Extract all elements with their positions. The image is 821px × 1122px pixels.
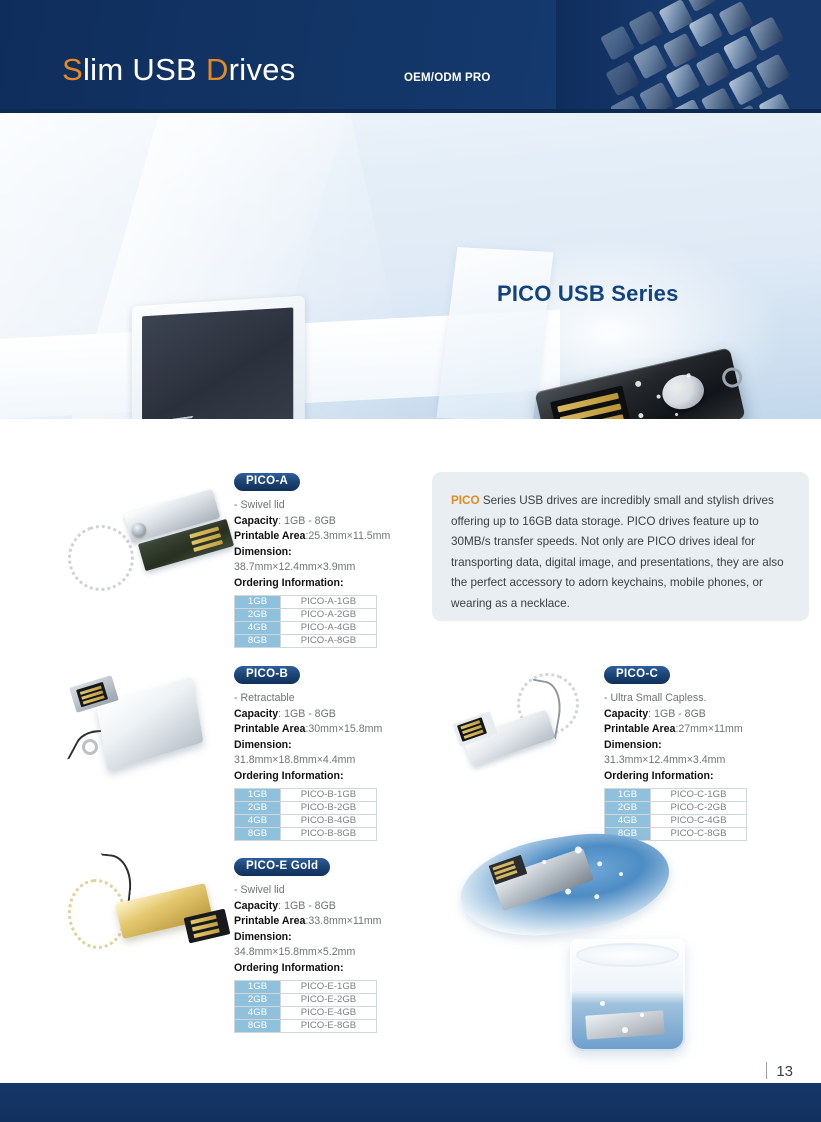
table-row: 2GBPICO-C-2GB bbox=[605, 802, 747, 815]
ordering-label: Ordering Information: bbox=[604, 769, 804, 785]
capacity-cell: 4GB bbox=[235, 1007, 281, 1020]
part-number-cell: PICO-C-8GB bbox=[651, 828, 747, 841]
pico-c-capacity-row: Capacity: 1GB - 8GB bbox=[604, 707, 804, 723]
water-bubble bbox=[565, 888, 572, 895]
part-number-cell: PICO-B-1GB bbox=[281, 789, 377, 802]
product-info-pico-a: PICO-A - Swivel lid Capacity: 1GB - 8GB … bbox=[234, 471, 424, 648]
printable-area-label: Printable Area bbox=[234, 723, 305, 735]
table-row: 4GBPICO-E-4GB bbox=[235, 1007, 377, 1020]
ordering-table-pico-b: 1GBPICO-B-1GB 2GBPICO-B-2GB 4GBPICO-B-4G… bbox=[234, 788, 377, 841]
capacity-cell: 1GB bbox=[605, 789, 651, 802]
water-bubble bbox=[640, 1013, 644, 1017]
water-bubble bbox=[619, 872, 624, 877]
pico-a-capacity-row: Capacity: 1GB - 8GB bbox=[234, 514, 424, 530]
laptop-lid bbox=[132, 295, 305, 419]
pico-c-printable-row: Printable Area:27mm×11mm bbox=[604, 722, 804, 738]
product-info-pico-c: PICO-C - Ultra Small Capless. Capacity: … bbox=[604, 664, 804, 841]
laptop-screen bbox=[142, 307, 293, 419]
capacity-label: Capacity bbox=[234, 708, 278, 720]
product-info-pico-b: PICO-B - Retractable Capacity: 1GB - 8GB… bbox=[234, 664, 424, 841]
capacity-cell: 4GB bbox=[235, 622, 281, 635]
capacity-cell: 8GB bbox=[235, 828, 281, 841]
table-row: 2GBPICO-B-2GB bbox=[235, 802, 377, 815]
product-photo-pico-a bbox=[48, 479, 233, 619]
ordering-label: Ordering Information: bbox=[234, 769, 424, 785]
part-number-cell: PICO-C-4GB bbox=[651, 815, 747, 828]
capacity-cell: 1GB bbox=[235, 789, 281, 802]
pico-c-printable-value: 27mm×11mm bbox=[678, 723, 742, 735]
pico-a-pivot bbox=[132, 523, 146, 537]
water-bubble bbox=[622, 1027, 628, 1033]
page-title-initial-d: D bbox=[206, 52, 229, 87]
capacity-cell: 2GB bbox=[235, 802, 281, 815]
product-badge-pico-a: PICO-A bbox=[234, 473, 300, 491]
pico-c-dimension-value: 31.3mm×12.4mm×3.4mm bbox=[604, 753, 804, 769]
hero-water-droplet bbox=[659, 371, 708, 414]
page-title-text-2: rives bbox=[229, 52, 296, 87]
table-row: 1GBPICO-E-1GB bbox=[235, 981, 377, 994]
page-title: Slim USB Drives bbox=[62, 52, 296, 88]
product-photo-pico-b bbox=[60, 669, 230, 794]
water-spark bbox=[638, 413, 644, 419]
page-title-initial-s: S bbox=[62, 52, 83, 87]
part-number-cell: PICO-A-8GB bbox=[281, 635, 377, 648]
capacity-cell: 8GB bbox=[235, 635, 281, 648]
table-row: 1GBPICO-A-1GB bbox=[235, 596, 377, 609]
ordering-label: Ordering Information: bbox=[234, 961, 434, 977]
pico-c-feature: - Ultra Small Capless. bbox=[604, 691, 804, 707]
part-number-cell: PICO-E-2GB bbox=[281, 994, 377, 1007]
description-lead-word: PICO bbox=[451, 494, 480, 507]
ordering-table-pico-a: 1GBPICO-A-1GB 2GBPICO-A-2GB 4GBPICO-A-4G… bbox=[234, 595, 377, 648]
capacity-cell: 4GB bbox=[605, 815, 651, 828]
table-row: 2GBPICO-E-2GB bbox=[235, 994, 377, 1007]
product-badge-pico-b: PICO-B bbox=[234, 666, 300, 684]
capacity-cell: 2GB bbox=[235, 994, 281, 1007]
product-info-pico-e: PICO-E Gold - Swivel lid Capacity: 1GB -… bbox=[234, 856, 434, 1033]
series-description-box: PICO Series USB drives are incredibly sm… bbox=[432, 472, 809, 621]
printable-area-label: Printable Area bbox=[234, 530, 305, 542]
pico-b-capacity-value: 1GB - 8GB bbox=[284, 708, 336, 720]
pico-a-printable-value: 25.3mm×11.5mm bbox=[308, 530, 390, 542]
description-body: Series USB drives are incredibly small a… bbox=[451, 494, 784, 610]
dimension-label: Dimension: bbox=[604, 738, 804, 754]
hero-usb-contacts bbox=[550, 386, 632, 419]
pico-e-feature: - Swivel lid bbox=[234, 883, 434, 899]
dimension-label: Dimension: bbox=[234, 738, 424, 754]
page-header: Slim USB Drives OEM/ODM PRO bbox=[0, 0, 821, 113]
usb-drive-in-glass bbox=[585, 1010, 664, 1039]
pico-b-capacity-row: Capacity: 1GB - 8GB bbox=[234, 707, 424, 723]
printable-area-label: Printable Area bbox=[604, 723, 675, 735]
table-row: 1GBPICO-B-1GB bbox=[235, 789, 377, 802]
part-number-cell: PICO-A-4GB bbox=[281, 622, 377, 635]
capacity-cell: 2GB bbox=[605, 802, 651, 815]
water-bubble bbox=[600, 1001, 605, 1006]
product-content: PICO-A - Swivel lid Capacity: 1GB - 8GB … bbox=[0, 419, 821, 1050]
table-row: 8GBPICO-A-8GB bbox=[235, 635, 377, 648]
pico-b-printable-value: 30mm×15.8mm bbox=[308, 723, 382, 735]
table-row: 4GBPICO-B-4GB bbox=[235, 815, 377, 828]
page-number-divider bbox=[766, 1062, 767, 1079]
part-number-cell: PICO-A-2GB bbox=[281, 609, 377, 622]
water-spark bbox=[656, 394, 661, 399]
capacity-label: Capacity bbox=[234, 515, 278, 527]
water-bubble bbox=[597, 861, 603, 867]
pico-c-capacity-value: 1GB - 8GB bbox=[654, 708, 706, 720]
table-row: 1GBPICO-C-1GB bbox=[605, 789, 747, 802]
product-photo-pico-c bbox=[455, 667, 620, 792]
table-row: 8GBPICO-E-8GB bbox=[235, 1020, 377, 1033]
glass-rim bbox=[576, 943, 679, 967]
part-number-cell: PICO-B-4GB bbox=[281, 815, 377, 828]
part-number-cell: PICO-C-2GB bbox=[651, 802, 747, 815]
part-number-cell: PICO-E-1GB bbox=[281, 981, 377, 994]
capacity-cell: 1GB bbox=[235, 981, 281, 994]
table-row: 2GBPICO-A-2GB bbox=[235, 609, 377, 622]
table-row: 8GBPICO-B-8GB bbox=[235, 828, 377, 841]
part-number-cell: PICO-B-2GB bbox=[281, 802, 377, 815]
product-photo-pico-e bbox=[60, 849, 230, 979]
product-badge-pico-e: PICO-E Gold bbox=[234, 858, 330, 876]
part-number-cell: PICO-C-1GB bbox=[651, 789, 747, 802]
header-subtitle: OEM/ODM PRO bbox=[404, 72, 491, 84]
page-footer-bar bbox=[0, 1083, 821, 1122]
table-row: 4GBPICO-C-4GB bbox=[605, 815, 747, 828]
hero-title: PICO USB Series bbox=[497, 281, 679, 307]
pico-a-printable-row: Printable Area:25.3mm×11.5mm bbox=[234, 529, 424, 545]
ordering-table-pico-c: 1GBPICO-C-1GB 2GBPICO-C-2GB 4GBPICO-C-4G… bbox=[604, 788, 747, 841]
ordering-label: Ordering Information: bbox=[234, 576, 424, 592]
page-number: 13 bbox=[766, 1062, 793, 1080]
capacity-label: Capacity bbox=[234, 900, 278, 912]
waterproof-demo-photo-glass bbox=[570, 939, 685, 1051]
pico-b-printable-row: Printable Area:30mm×15.8mm bbox=[234, 722, 424, 738]
pico-e-capacity-value: 1GB - 8GB bbox=[284, 900, 336, 912]
part-number-cell: PICO-E-4GB bbox=[281, 1007, 377, 1020]
part-number-cell: PICO-A-1GB bbox=[281, 596, 377, 609]
capacity-cell: 8GB bbox=[235, 1020, 281, 1033]
dimension-label: Dimension: bbox=[234, 930, 434, 946]
pico-e-printable-value: 33.8mm×11mm bbox=[308, 915, 381, 927]
pico-e-capacity-row: Capacity: 1GB - 8GB bbox=[234, 899, 434, 915]
pico-a-feature: - Swivel lid bbox=[234, 498, 424, 514]
printable-area-label: Printable Area bbox=[234, 915, 305, 927]
capacity-cell: 2GB bbox=[235, 609, 281, 622]
table-row: 4GBPICO-A-4GB bbox=[235, 622, 377, 635]
water-spark bbox=[635, 380, 642, 387]
pico-b-loop bbox=[82, 739, 98, 755]
ordering-table-pico-e: 1GBPICO-E-1GB 2GBPICO-E-2GB 4GBPICO-E-4G… bbox=[234, 980, 377, 1033]
water-spark bbox=[675, 413, 679, 417]
part-number-cell: PICO-B-8GB bbox=[281, 828, 377, 841]
pico-a-capacity-value: 1GB - 8GB bbox=[284, 515, 336, 527]
pico-b-feature: - Retractable bbox=[234, 691, 424, 707]
pico-a-dimension-value: 38.7mm×12.4mm×3.9mm bbox=[234, 560, 424, 576]
product-badge-pico-c: PICO-C bbox=[604, 666, 670, 684]
capacity-label: Capacity bbox=[604, 708, 648, 720]
page-number-value: 13 bbox=[776, 1063, 793, 1080]
laptop-photo bbox=[118, 301, 418, 419]
pico-e-printable-row: Printable Area:33.8mm×11mm bbox=[234, 914, 434, 930]
water-bubble bbox=[594, 894, 600, 900]
hero-banner: PICO USB Series bbox=[0, 113, 821, 419]
page-title-text-1: lim USB bbox=[83, 52, 206, 87]
dimension-label: Dimension: bbox=[234, 545, 424, 561]
capacity-cell: 4GB bbox=[235, 815, 281, 828]
series-description-text: PICO Series USB drives are incredibly sm… bbox=[451, 491, 791, 614]
pico-b-dimension-value: 31.8mm×18.8mm×4.4mm bbox=[234, 753, 424, 769]
capacity-cell: 1GB bbox=[235, 596, 281, 609]
lanyard-strap bbox=[96, 853, 135, 904]
part-number-cell: PICO-E-8GB bbox=[281, 1020, 377, 1033]
pico-e-dimension-value: 34.8mm×15.8mm×5.2mm bbox=[234, 945, 434, 961]
header-gradient-fade bbox=[556, 0, 666, 113]
